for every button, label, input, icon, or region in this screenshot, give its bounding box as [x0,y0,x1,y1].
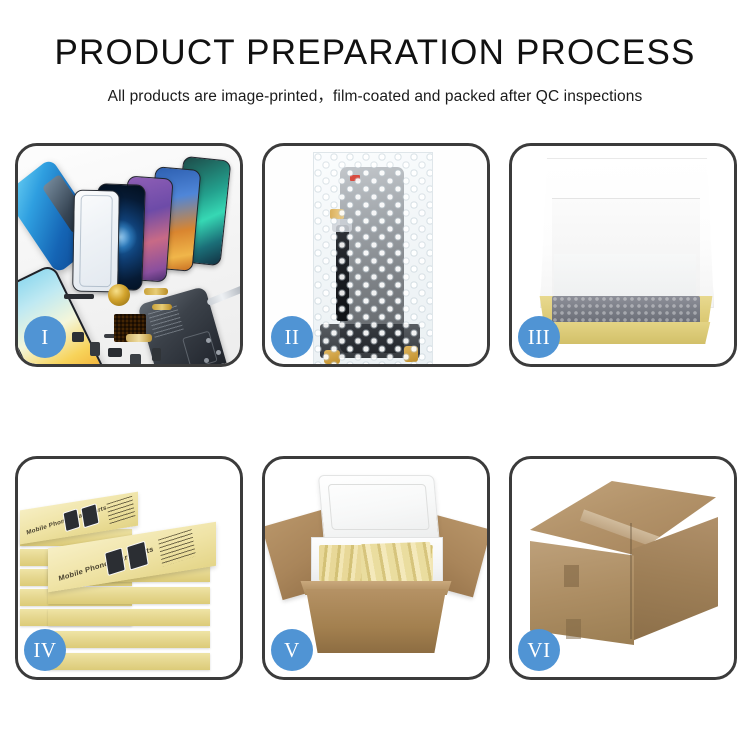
carton-vertical-edge [630,523,632,639]
bubble-wrap-bag [313,152,433,364]
gold-box-front-edge [540,322,712,344]
header: PRODUCT PREPARATION PROCESS All products… [0,0,750,106]
step-badge-5: V [271,629,313,671]
page-title: PRODUCT PREPARATION PROCESS [0,34,750,73]
step-badge-6: VI [518,629,560,671]
carton-body [303,589,449,653]
step-panel-4: Mobile Phone Spare Parts Mobile Phone Sp… [15,456,243,680]
small-spare-parts [56,276,236,364]
step-panel-5: V [262,456,490,680]
step-badge-2: II [271,316,313,358]
page-subtitle: All products are image-printed，film-coat… [0,84,750,106]
carton-hand-notch-bottom [566,619,581,639]
carton-hand-notch-top [564,565,579,587]
product-preparation-process-infographic: PRODUCT PREPARATION PROCESS All products… [0,0,750,750]
step-panel-2: II [262,143,490,367]
gold-boxes-inside-second [360,542,431,584]
bubble-texture [314,153,432,364]
grey-foam-padding [552,296,700,324]
step-badge-1: I [24,316,66,358]
steps-grid: I II [15,143,737,683]
step-badge-3: III [518,316,560,358]
step-panel-6: VI [509,456,737,680]
foam-cooler-lid [318,475,440,545]
step-panel-3: III [509,143,737,367]
step-badge-4: IV [24,629,66,671]
step-panel-1: I [15,143,243,367]
